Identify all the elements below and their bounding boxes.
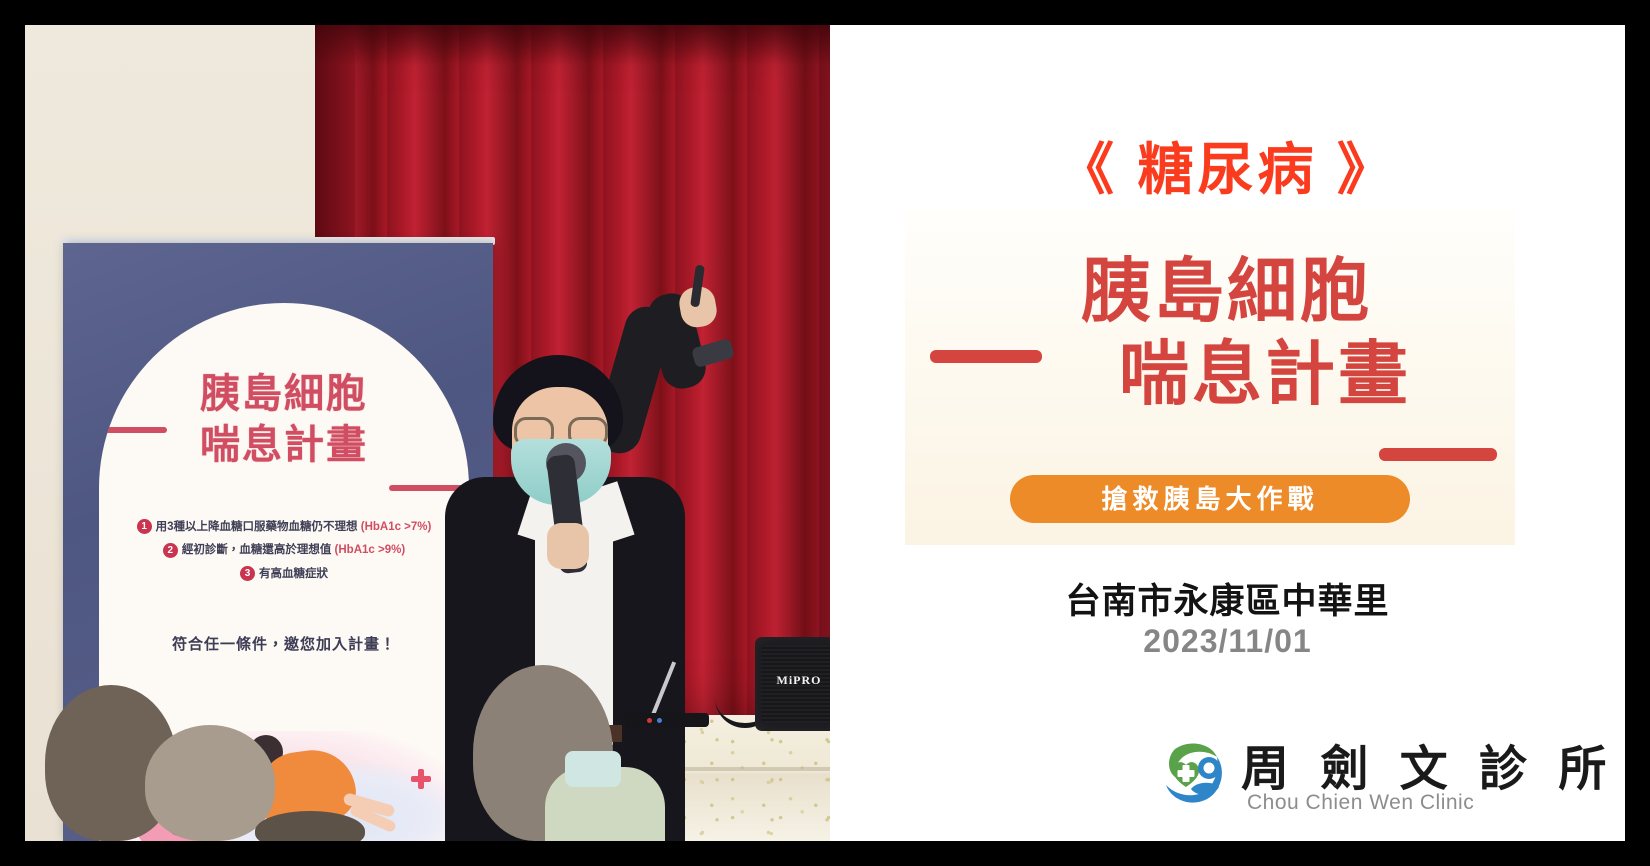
criterion-number: 3 bbox=[240, 566, 255, 581]
clinic-logo-mark-icon bbox=[1155, 733, 1229, 807]
clinic-name-cn: 周 劍 文 診 所 bbox=[1241, 729, 1615, 799]
program-card: 胰島細胞 喘息計畫 搶救胰島大作戰 bbox=[905, 210, 1515, 545]
poster-criterion: 3有高血糖症狀 bbox=[99, 565, 469, 581]
mipro-speaker: MiPRO bbox=[755, 637, 830, 731]
card-title-line1: 胰島細胞 bbox=[905, 250, 1515, 333]
medical-cross-icon bbox=[411, 769, 431, 789]
speaker-brand-label: MiPRO bbox=[755, 673, 830, 688]
poster-title-line1: 胰島細胞 bbox=[200, 372, 368, 416]
poster-title-line2: 喘息計畫 bbox=[200, 423, 368, 467]
curtain-top-shadow bbox=[315, 25, 830, 65]
poster-title: 胰島細胞 喘息計畫 bbox=[99, 369, 469, 471]
event-date: 2023/11/01 bbox=[830, 623, 1625, 660]
page-title: 《 糖尿病 》 bbox=[830, 125, 1625, 206]
poster-criterion: 1用3種以上降血糖口服藥物血糖仍不理想 (HbA1c >7%) bbox=[99, 518, 469, 534]
poster-criteria-list: 1用3種以上降血糖口服藥物血糖仍不理想 (HbA1c >7%) 2經初診斷，血糖… bbox=[99, 511, 469, 588]
card-title: 胰島細胞 喘息計畫 bbox=[905, 250, 1515, 415]
mic-stand-base bbox=[625, 713, 709, 727]
poster-cta: 符合任一條件，邀您加入計畫！ bbox=[99, 633, 469, 654]
criterion-number: 1 bbox=[137, 519, 152, 534]
card-title-line2: 喘息計畫 bbox=[905, 333, 1515, 416]
clinic-name-en: Chou Chien Wen Clinic bbox=[1247, 791, 1474, 815]
slide-canvas: 胰島細胞 喘息計畫 1用3種以上降血糖口服藥物血糖仍不理想 (HbA1c >7%… bbox=[25, 25, 1625, 841]
lecture-photo: 胰島細胞 喘息計畫 1用3種以上降血糖口服藥物血糖仍不理想 (HbA1c >7%… bbox=[25, 25, 830, 841]
criterion-number: 2 bbox=[163, 543, 178, 558]
poster-criterion: 2經初診斷，血糖還高於理想值 (HbA1c >9%) bbox=[99, 541, 469, 557]
criterion-text: 經初診斷，血糖還高於理想值 bbox=[182, 544, 335, 556]
clinic-logo: 周 劍 文 診 所 Chou Chien Wen Clinic bbox=[1155, 725, 1575, 829]
campaign-badge-label: 搶救胰島大作戰 bbox=[1010, 475, 1410, 523]
eyeglasses-icon bbox=[514, 417, 608, 441]
mic-status-led bbox=[647, 718, 652, 723]
info-panel: 《 糖尿病 》 胰島細胞 喘息計畫 搶救胰島大作戰 台南市永康區中華里 2023… bbox=[830, 25, 1625, 841]
criterion-text: 用3種以上降血糖口服藥物血糖仍不理想 bbox=[156, 521, 361, 533]
criterion-text: 有高血糖症狀 bbox=[259, 568, 328, 580]
presenter-mic-hand bbox=[547, 523, 589, 569]
card-accent-line-right bbox=[1379, 448, 1497, 461]
criterion-hba1c: (HbA1c >9%) bbox=[335, 544, 406, 556]
campaign-badge: 搶救胰島大作戰 bbox=[1010, 475, 1410, 523]
audience-head bbox=[145, 725, 275, 841]
criterion-hba1c: (HbA1c >7%) bbox=[361, 521, 432, 533]
event-location: 台南市永康區中華里 bbox=[830, 573, 1625, 624]
audience-mask-icon bbox=[565, 751, 621, 787]
